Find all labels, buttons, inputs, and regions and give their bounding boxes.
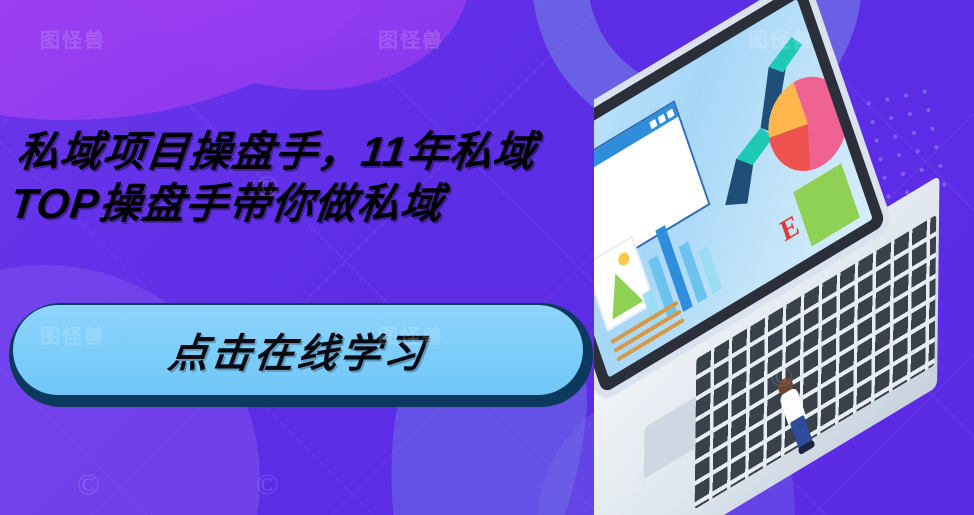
cta-button-face[interactable]: 点击在线学习 [13, 305, 583, 395]
window-close-icon [666, 108, 674, 118]
course-promo-banner: E 私域项目操盘手，11年私域 TOP操盘手带你 [0, 0, 974, 515]
isometric-laptop-illustration: E [594, 0, 974, 515]
letter-e-graphic: E [777, 209, 804, 250]
cta-button[interactable]: 点击在线学习 [9, 303, 593, 407]
window-maximize-icon [658, 113, 666, 123]
page-title: 私域项目操盘手，11年私域 TOP操盘手带你做私域 [8, 126, 781, 230]
laptop-graphic: E [594, 0, 974, 515]
cta-button-label: 点击在线学习 [165, 321, 430, 379]
